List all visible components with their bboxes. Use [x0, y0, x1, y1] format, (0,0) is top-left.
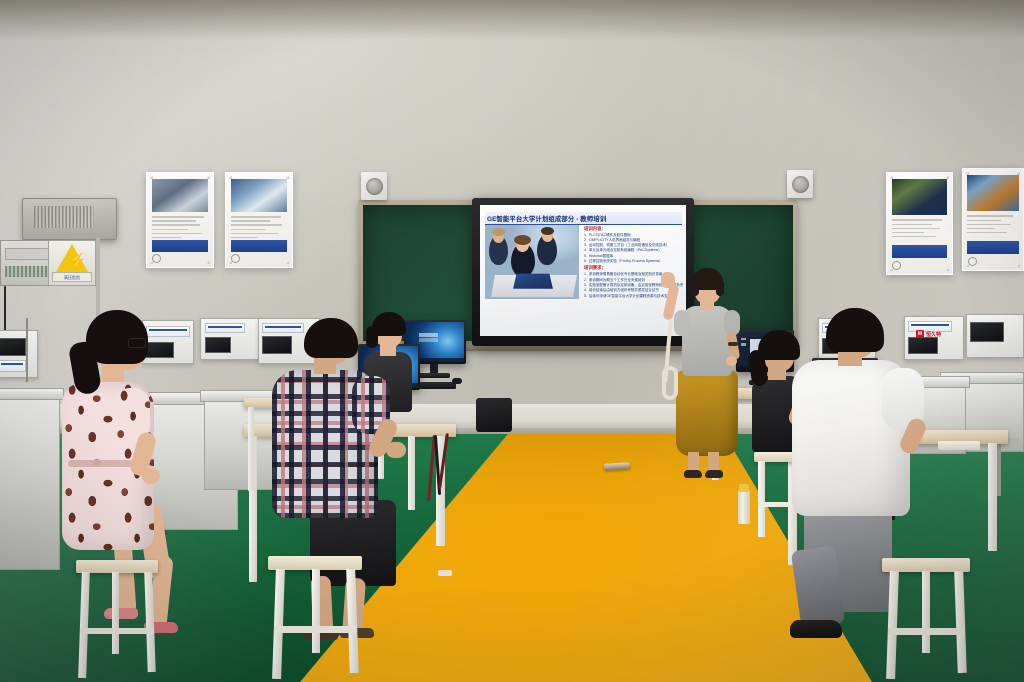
presenter [660, 262, 760, 482]
poster-standoff [890, 176, 893, 179]
item-text: 运动控制、伺服工艺包（工业网络通信及总线技术） [589, 243, 683, 248]
attendee1-sandal-2 [104, 608, 138, 619]
poster-text-lines [231, 216, 288, 241]
poster-standoff [229, 261, 232, 264]
stool-5-rail [888, 628, 964, 635]
poster-standoff [966, 172, 969, 175]
lab-bench-top [0, 388, 64, 400]
wall-speaker-left-icon [361, 172, 387, 200]
instrument-label [205, 323, 245, 333]
floor-object [604, 462, 630, 470]
slide-list-item: 3.运动控制、伺服工艺包（工业网络通信及总线技术） [584, 243, 683, 248]
attendee2-hand [386, 442, 406, 458]
stool-1-rail [80, 628, 154, 634]
panel-grille [5, 266, 53, 277]
bench-stand-rod [26, 318, 28, 382]
attendee-5-white-shirt [786, 308, 962, 654]
poster-standoff [1017, 264, 1020, 267]
wall-poster-right-2 [962, 168, 1024, 271]
mouse[interactable] [452, 378, 462, 384]
stool-1-leg [112, 572, 119, 654]
poster-standoff [229, 176, 232, 179]
display-screen[interactable]: GE智能平台大学计划组成部分 - 教师培训 培训内容： 1.PLC与PAC硬件及… [480, 205, 686, 336]
slide-stock-photo [485, 225, 579, 299]
label-bar [208, 326, 242, 328]
poster-standoff [890, 268, 893, 271]
lab-bench-cabinet-far-left [0, 394, 60, 570]
poster-standoff [946, 176, 949, 179]
presenter-hand-right [726, 356, 737, 366]
poster-standoff [207, 261, 210, 264]
poster-photo [967, 175, 1019, 211]
water-bottle[interactable] [738, 490, 750, 524]
item-text: 单元及单元组合控制系统编程（PACSystems） [589, 248, 683, 253]
attendee2-hair [304, 318, 358, 358]
instrument-screen [205, 337, 231, 353]
slide-list-item: 5.Historian数据库 [584, 254, 683, 259]
poster-text-lines [892, 219, 948, 239]
poster-standoff [286, 261, 289, 264]
speaker-cone [792, 176, 809, 193]
item-text: CIMPLICITY人机界面组态与编程 [589, 238, 683, 243]
stool-5-leg [922, 571, 930, 653]
poster-accent-bar [892, 245, 948, 258]
poster-logo [968, 257, 977, 266]
photo-laptop-icon [513, 274, 553, 289]
bottle-cap [739, 484, 749, 492]
stool-2-rail [274, 626, 356, 633]
speaker-cone [366, 178, 383, 195]
desk-leg [248, 407, 254, 491]
item-number: 1. [584, 272, 587, 277]
item-number: 4. [584, 248, 587, 253]
poster-photo [892, 179, 948, 215]
attendee5-hair [826, 308, 884, 352]
poster-standoff [1017, 172, 1020, 175]
lightning-bolt-icon: ⚡ [69, 253, 86, 267]
classroom-scene: ⚡ 高压危险 GE智能平台大学计划组成部分 - 教师培训 [0, 0, 1024, 682]
warning-label-text: 高压危险 [52, 272, 92, 282]
panel-vent-grille [34, 206, 94, 228]
item-number: 5. [584, 254, 587, 259]
keyboard[interactable] [420, 382, 456, 389]
presenter-wristwatch [728, 342, 738, 346]
item-text: PLC与PAC硬件及软件基础 [589, 233, 683, 238]
wall-poster-left-2 [225, 172, 293, 268]
instrument-label [0, 360, 26, 372]
poster-standoff [286, 176, 289, 179]
presenter-raised-hand [661, 272, 675, 288]
stool-2-leg [312, 569, 320, 653]
slide-list-item: 1.PLC与PAC硬件及软件基础 [584, 233, 683, 238]
item-number: 1. [584, 233, 587, 238]
wall-speaker-right-icon [787, 170, 813, 198]
label-bar [1, 363, 23, 365]
poster-logo [231, 254, 240, 263]
poster-standoff [946, 268, 949, 271]
stool-4-leg [758, 461, 765, 537]
presenter-sleeve-left [674, 310, 690, 336]
stool-5-seat[interactable] [882, 558, 970, 572]
poster-photo [231, 179, 288, 213]
slide-list-item: 2.CIMPLICITY人机界面组态与编程 [584, 238, 683, 243]
photo-hair-right [541, 227, 554, 235]
item-number: 2. [584, 278, 587, 283]
panel-window [5, 248, 53, 260]
desk-leg [988, 443, 997, 551]
presenter-bag-strap-loop [662, 366, 678, 400]
item-number: 6. [584, 259, 587, 264]
poster-text-lines [967, 215, 1019, 235]
poster-text-lines [152, 216, 209, 241]
attendee1-hand [142, 468, 160, 484]
attendee5-shoe [790, 620, 842, 638]
poster-logo [892, 261, 901, 270]
wall-poster-right-1 [886, 172, 953, 275]
item-number: 3. [584, 243, 587, 248]
ceiling-shadow [0, 0, 1024, 40]
photo-hair-center [514, 235, 531, 245]
presenter-hair-side-left [691, 280, 699, 296]
presenter-shoe-left [684, 470, 702, 478]
item-number: 3. [584, 283, 587, 288]
wall-poster-left-1 [146, 172, 214, 268]
instrument-screen [0, 338, 26, 356]
presenter-hair-side-right [716, 280, 724, 296]
stool-2-seat[interactable] [268, 556, 362, 570]
poster-standoff [207, 176, 210, 179]
slide-list-item: 4.单元及单元组合控制系统编程（PACSystems） [584, 248, 683, 253]
poster-accent-bar [231, 240, 288, 252]
poster-standoff [150, 176, 153, 179]
poster-logo [152, 254, 161, 263]
floor-outlet-cover [438, 570, 452, 576]
poster-accent-bar [967, 241, 1019, 254]
glasses-icon [128, 338, 146, 348]
poster-standoff [150, 261, 153, 264]
poster-standoff [966, 264, 969, 267]
item-text: Historian数据库 [589, 254, 683, 259]
instrument-screen [970, 322, 1004, 342]
item-number: 4. [584, 288, 587, 293]
poster-accent-bar [152, 240, 209, 252]
floor-bag[interactable] [476, 398, 512, 432]
attendee-2-plaid-shirt [264, 318, 424, 648]
photo-hair-left [492, 228, 505, 236]
item-number: 5. [584, 294, 587, 299]
slide-section-heading: 培训内容： [584, 226, 683, 232]
presenter-shoe-right [705, 470, 723, 478]
attendee-1-floral-dress [56, 308, 206, 682]
item-number: 2. [584, 238, 587, 243]
poster-photo [152, 179, 209, 213]
presenter-skirt [676, 370, 738, 456]
